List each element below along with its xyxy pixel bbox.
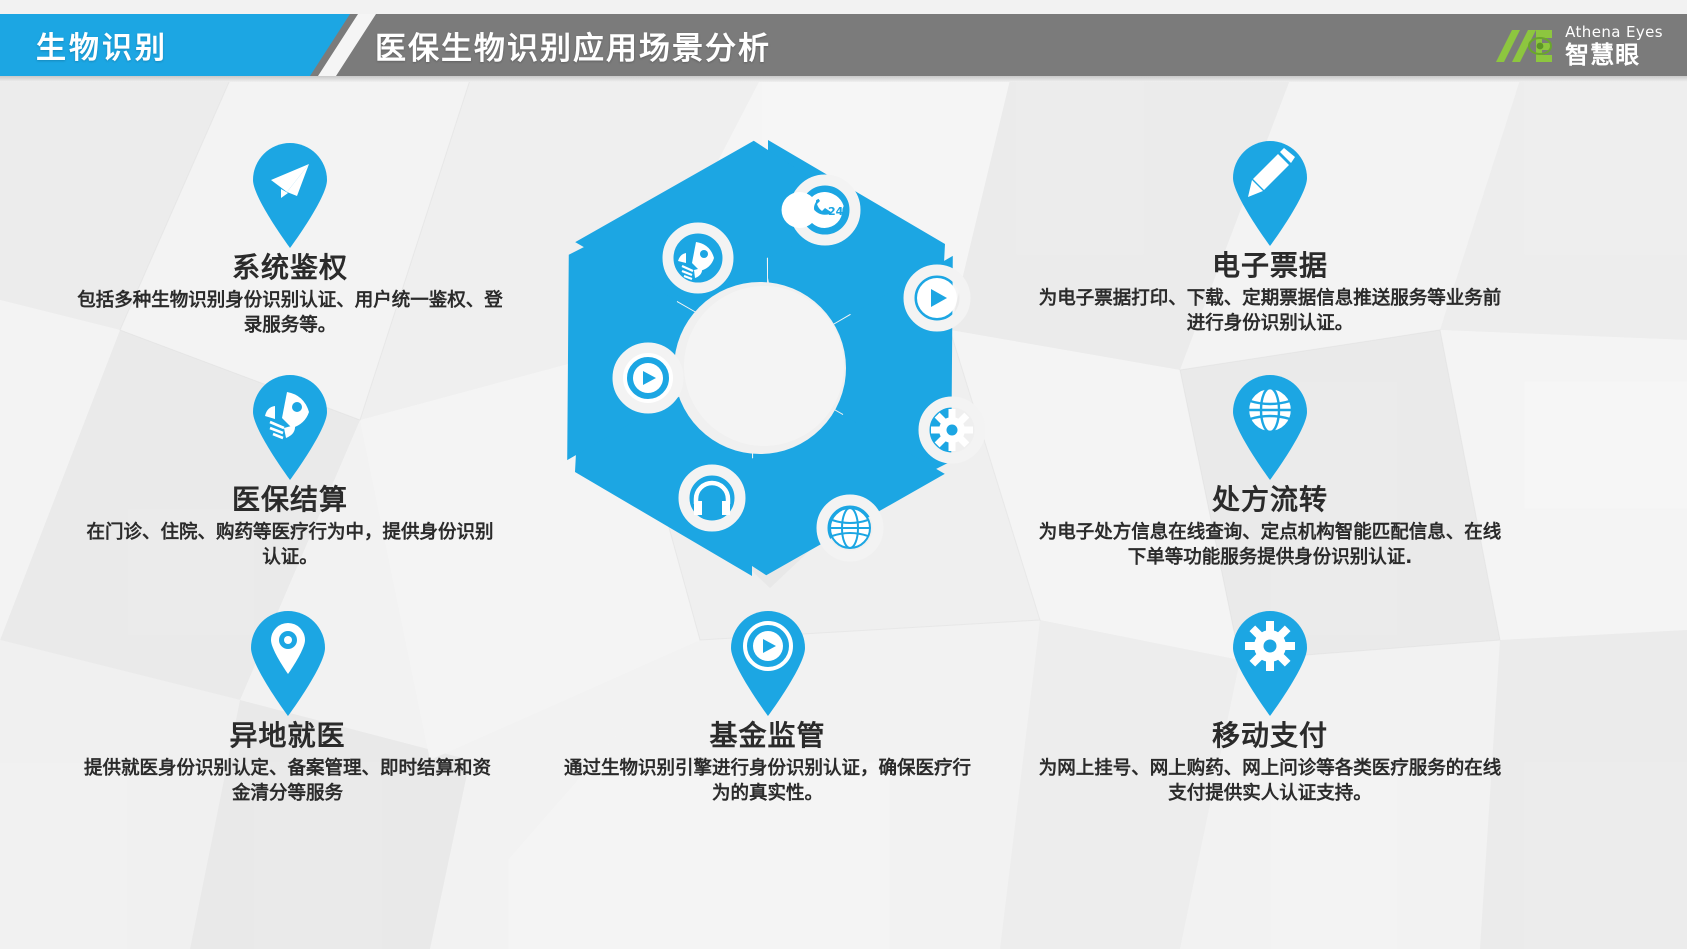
page-title: 医保生物识别应用场景分析 — [375, 14, 771, 76]
scenario-item-mobile-payment: 移动支付 为网上挂号、网上购药、网上问诊等各类医疗服务的在线支付提供实人认证支持… — [1035, 608, 1505, 807]
paper-plane-pin-icon — [247, 140, 333, 250]
hexagonal-cycle-diagram: 24 — [520, 118, 1000, 598]
item-title: 基金监管 — [555, 720, 980, 752]
page-header: 生物识别 医保生物识别应用场景分析 Athena Eyes 智慧眼 — [0, 0, 1687, 90]
item-title: 移动支付 — [1035, 720, 1505, 752]
scenario-item-electronic-bill: 电子票据 为电子票据打印、下载、定期票据信息推送服务等业务前进行身份识别认证。 — [1035, 138, 1505, 337]
logo-english-text: Athena Eyes — [1565, 25, 1663, 40]
scenario-item-prescription-circulation: 处方流转 为电子处方信息在线查询、定点机构智能匹配信息、在线下单等功能服务提供身… — [1035, 372, 1505, 571]
pencil-pin-icon — [1227, 138, 1313, 248]
gear-pin-icon — [1227, 608, 1313, 718]
header-tag-banner: 生物识别 — [0, 14, 350, 76]
item-description: 通过生物识别引擎进行身份识别认证，确保医疗行为的真实性。 — [555, 757, 980, 807]
item-description: 为网上挂号、网上购药、网上问诊等各类医疗服务的在线支付提供实人认证支持。 — [1035, 757, 1505, 807]
item-title: 电子票据 — [1035, 250, 1505, 282]
scenario-item-remote-medical-treatment: 异地就医 提供就医身份识别认定、备案管理、即时结算和资金清分等服务 — [75, 608, 500, 807]
globe-pin-icon — [1227, 372, 1313, 482]
item-description: 包括多种生物识别身份识别认证、用户统一鉴权、登录服务等。 — [70, 289, 510, 339]
svg-text:24: 24 — [828, 205, 844, 218]
item-title: 医保结算 — [80, 484, 500, 516]
item-description: 提供就医身份识别认定、备案管理、即时结算和资金清分等服务 — [75, 757, 500, 807]
map-pin-pin-icon — [245, 608, 331, 718]
play-circle-pin-icon — [725, 608, 811, 718]
play-circle-icon — [917, 278, 957, 318]
phone-24h-icon: 24 — [782, 192, 844, 228]
header-tag-label: 生物识别 — [0, 23, 168, 67]
item-title: 异地就医 — [75, 720, 500, 752]
item-description: 为电子票据打印、下载、定期票据信息推送服务等业务前进行身份识别认证。 — [1035, 287, 1505, 337]
rocket-pin-icon — [247, 372, 333, 482]
logo-chinese-text: 智慧眼 — [1565, 43, 1663, 67]
brand-logo: Athena Eyes 智慧眼 — [1490, 20, 1663, 72]
gear-icon — [931, 409, 973, 451]
header-shadow — [0, 76, 1687, 82]
item-description: 在门诊、住院、购药等医疗行为中，提供身份识别认证。 — [80, 521, 500, 571]
item-description: 为电子处方信息在线查询、定点机构智能匹配信息、在线下单等功能服务提供身份识别认证… — [1035, 521, 1505, 571]
scenario-item-fund-supervision: 基金监管 通过生物识别引擎进行身份识别认证，确保医疗行为的真实性。 — [555, 608, 980, 807]
athena-eyes-logo-mark-icon — [1490, 26, 1556, 66]
globe-icon — [830, 508, 870, 548]
item-title: 系统鉴权 — [70, 252, 510, 284]
scenario-item-system-auth: 系统鉴权 包括多种生物识别身份识别认证、用户统一鉴权、登录服务等。 — [70, 140, 510, 339]
item-title: 处方流转 — [1035, 484, 1505, 516]
scenario-item-medical-insurance-settlement: 医保结算 在门诊、住院、购药等医疗行为中，提供身份识别认证。 — [80, 372, 500, 571]
